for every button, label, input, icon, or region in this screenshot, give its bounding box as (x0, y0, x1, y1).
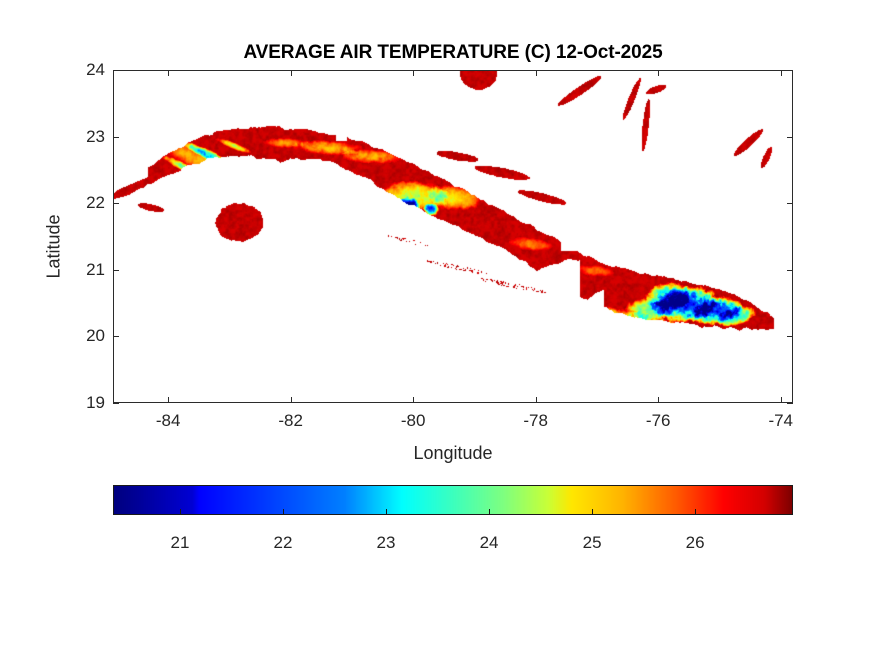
colorbar-tick-mark (386, 509, 387, 515)
x-tick-mark (168, 70, 169, 76)
y-axis-label: Latitude (44, 187, 65, 307)
temperature-map-raster (114, 71, 793, 403)
y-tick-mark (787, 336, 793, 337)
x-tick-label: -84 (156, 411, 181, 431)
y-tick-mark (113, 270, 119, 271)
x-tick-mark (168, 397, 169, 403)
colorbar-tick-mark (180, 509, 181, 515)
colorbar-tick-mark (592, 509, 593, 515)
y-tick-label: 23 (51, 127, 105, 147)
colorbar (113, 485, 793, 515)
x-tick-mark (658, 70, 659, 76)
x-tick-mark (413, 70, 414, 76)
x-tick-mark (781, 397, 782, 403)
y-tick-mark (113, 336, 119, 337)
colorbar-tick-label: 21 (171, 533, 190, 553)
x-tick-label: -80 (401, 411, 426, 431)
y-tick-mark (113, 203, 119, 204)
y-tick-mark (787, 70, 793, 71)
y-tick-mark (787, 203, 793, 204)
map-axes (113, 70, 793, 403)
x-tick-label: -74 (768, 411, 793, 431)
y-tick-label: 19 (51, 393, 105, 413)
page-title: AVERAGE AIR TEMPERATURE (C) 12-Oct-2025 (113, 42, 793, 64)
y-tick-mark (787, 137, 793, 138)
x-tick-mark (291, 397, 292, 403)
y-tick-mark (787, 270, 793, 271)
y-tick-label: 24 (51, 60, 105, 80)
y-tick-mark (113, 403, 119, 404)
figure-canvas: AVERAGE AIR TEMPERATURE (C) 12-Oct-2025 … (0, 0, 875, 656)
colorbar-tick-mark (489, 509, 490, 515)
y-tick-label: 20 (51, 326, 105, 346)
y-tick-mark (113, 137, 119, 138)
colorbar-tick-label: 24 (480, 533, 499, 553)
x-tick-mark (781, 70, 782, 76)
x-tick-label: -82 (278, 411, 303, 431)
colorbar-tick-label: 22 (274, 533, 293, 553)
colorbar-tick-label: 25 (583, 533, 602, 553)
colorbar-tick-mark (283, 509, 284, 515)
x-axis-label: Longitude (113, 443, 793, 464)
x-tick-mark (536, 397, 537, 403)
x-tick-label: -78 (523, 411, 548, 431)
y-tick-mark (787, 403, 793, 404)
colorbar-gradient (113, 485, 793, 515)
x-tick-mark (536, 70, 537, 76)
x-tick-mark (291, 70, 292, 76)
y-tick-mark (113, 70, 119, 71)
x-tick-mark (413, 397, 414, 403)
x-tick-label: -76 (646, 411, 671, 431)
x-tick-mark (658, 397, 659, 403)
colorbar-tick-mark (695, 509, 696, 515)
colorbar-tick-label: 23 (377, 533, 396, 553)
colorbar-tick-label: 26 (686, 533, 705, 553)
